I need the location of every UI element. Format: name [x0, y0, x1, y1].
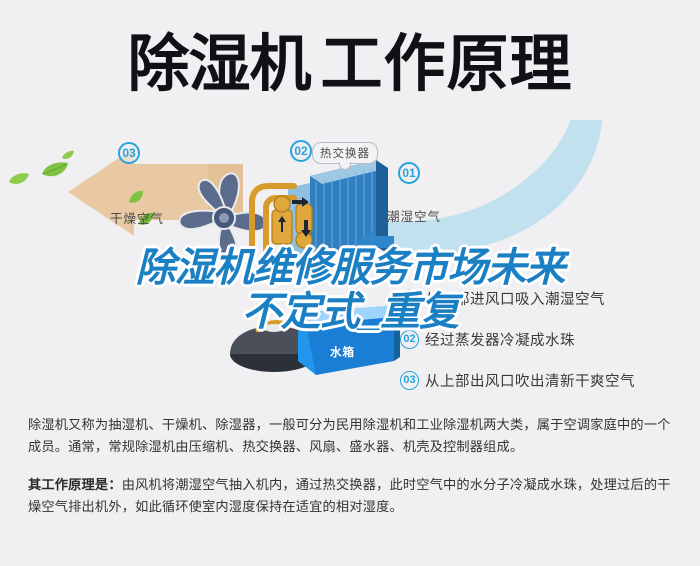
legend-list: 01 从下部进风口吸入潮湿空气 02 经过蒸发器冷凝成水珠 03 从上部出风口吹… — [400, 288, 690, 400]
humid-air-flow-curve — [378, 120, 608, 262]
heat-exchanger-illustration — [236, 158, 396, 293]
legend-item: 01 从下部进风口吸入潮湿空气 — [400, 288, 690, 309]
diagram-badge-02: 02 — [290, 140, 312, 162]
diagram-label-heat-exchanger: 热交换器 — [312, 142, 378, 164]
paragraph-1: 除湿机又称为抽湿机、干燥机、除湿器，一般可分为民用除湿机和工业除湿机两大类，属于… — [28, 414, 676, 458]
paragraph-2: 其工作原理是：由风机将潮湿空气抽入机内，通过热交换器，此时空气中的水分子冷凝成水… — [28, 474, 676, 518]
diagram-label-humid-air: 潮湿空气 — [387, 206, 441, 225]
legend-badge-01: 01 — [400, 289, 419, 308]
diagram-badge-01: 01 — [398, 162, 420, 184]
diagram-badge-03: 03 — [118, 142, 140, 164]
title-part-1: 除湿机 — [127, 30, 310, 99]
legend-text-02: 经过蒸发器冷凝成水珠 — [425, 329, 575, 350]
infographic-page: 除湿机工作原理 — [0, 0, 700, 566]
leaf-icon — [127, 190, 145, 206]
dehumidifier-diagram: 03 干燥空气 02 热交换器 01 潮湿空气 水箱 01 从下部进风口吸入潮湿… — [0, 120, 700, 400]
legend-badge-03: 03 — [400, 371, 419, 390]
paragraph-2-rest: 由风机将潮湿空气抽入机内，通过热交换器，此时空气中的水分子冷凝成水珠，处理过后的… — [28, 477, 671, 514]
page-title: 除湿机工作原理 — [0, 28, 700, 102]
legend-text-01: 从下部进风口吸入潮湿空气 — [425, 288, 605, 309]
legend-item: 03 从上部出风口吹出清新干爽空气 — [400, 370, 690, 391]
description-text: 除湿机又称为抽湿机、干燥机、除湿器，一般可分为民用除湿机和工业除湿机两大类，属于… — [28, 414, 676, 534]
leaf-icon — [8, 172, 30, 187]
legend-badge-02: 02 — [400, 330, 419, 349]
diagram-label-dry-air: 干燥空气 — [110, 208, 164, 227]
diagram-label-water-tank: 水箱 — [330, 344, 355, 360]
legend-text-03: 从上部出风口吹出清新干爽空气 — [425, 370, 635, 391]
legend-item: 02 经过蒸发器冷凝成水珠 — [400, 329, 690, 350]
paragraph-2-lead: 其工作原理是： — [28, 477, 122, 492]
leaf-icon — [61, 150, 75, 162]
leaf-icon — [40, 160, 70, 180]
title-part-2: 工作原理 — [321, 30, 573, 99]
